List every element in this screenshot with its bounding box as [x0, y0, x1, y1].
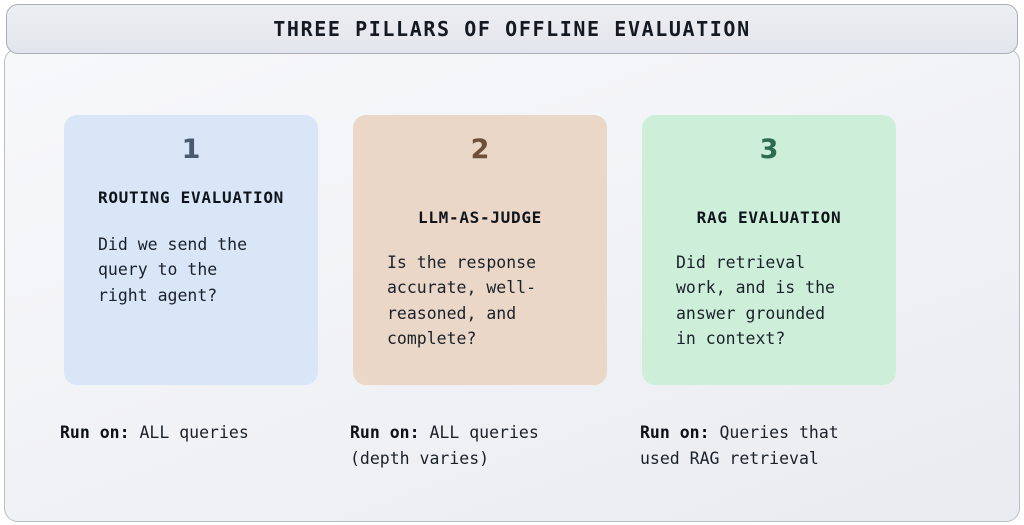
pillar-description: Did retrieval work, and is the answer gr… [658, 250, 835, 352]
run-on-label: Run on: [60, 423, 130, 442]
pillar-title: RAG EVALUATION [697, 207, 842, 230]
pillar-title: ROUTING EVALUATION [98, 187, 284, 210]
run-on-label: Run on: [350, 423, 420, 442]
pillar-number: 2 [471, 136, 490, 163]
pillar-description: Is the response accurate, well- reasoned… [369, 250, 536, 352]
pillar-description: Did we send the query to the right agent… [80, 232, 247, 309]
pillar-card-llm-as-judge: 2 LLM-AS-JUDGE Is the response accurate,… [353, 115, 607, 385]
run-on-note-rag: Run on: Queries that used RAG retrieval [640, 420, 960, 490]
run-on-value: ALL queries [130, 423, 249, 442]
page-title: THREE PILLARS OF OFFLINE EVALUATION [273, 17, 750, 41]
pillar-card-routing-evaluation: 1 ROUTING EVALUATION Did we send the que… [64, 115, 318, 385]
pillar-title: LLM-AS-JUDGE [418, 207, 542, 230]
pillar-cards-row: 1 ROUTING EVALUATION Did we send the que… [64, 115, 896, 385]
run-on-notes-row: Run on: ALL queries Run on: ALL queries … [60, 420, 965, 490]
title-bar: THREE PILLARS OF OFFLINE EVALUATION [6, 4, 1018, 54]
infographic-page: THREE PILLARS OF OFFLINE EVALUATION 1 RO… [0, 0, 1024, 525]
pillar-number: 1 [182, 136, 201, 163]
run-on-note-routing: Run on: ALL queries [60, 420, 350, 490]
pillar-number: 3 [760, 136, 779, 163]
pillar-card-rag-evaluation: 3 RAG EVALUATION Did retrieval work, and… [642, 115, 896, 385]
run-on-label: Run on: [640, 423, 710, 442]
run-on-note-llm-as-judge: Run on: ALL queries (depth varies) [350, 420, 640, 490]
